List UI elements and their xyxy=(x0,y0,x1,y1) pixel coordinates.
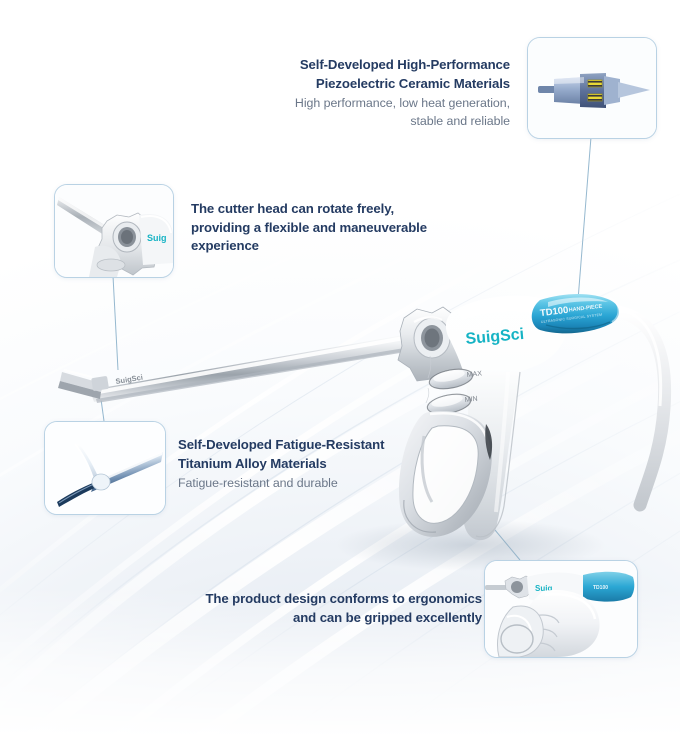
callout-piezoelectric: Self-Developed High-Performance Piezoele… xyxy=(236,56,510,130)
device-cable xyxy=(618,312,665,505)
callout-titanium-alloy: Self-Developed Fatigue-Resistant Titaniu… xyxy=(178,436,418,492)
panel-piezoelectric-image xyxy=(528,38,656,138)
device-shaft xyxy=(90,330,436,403)
callout-ergonomics-title: The product design conforms to ergonomic… xyxy=(190,590,482,627)
callout-titanium-alloy-subtitle: Fatigue-resistant and durable xyxy=(178,474,418,492)
panel-rotating-head-image: Suig xyxy=(55,185,173,277)
callout-piezoelectric-title: Self-Developed High-Performance Piezoele… xyxy=(236,56,510,93)
svg-text:TD100: TD100 xyxy=(593,585,608,591)
panel-titanium-alloy xyxy=(44,421,166,515)
callout-ergonomics: The product design conforms to ergonomic… xyxy=(190,590,482,627)
infographic-stage: SuigSci TD100 HAND-PIECE ULTRASO xyxy=(0,0,680,737)
callout-rotating-head-title: The cutter head can rotate freely, provi… xyxy=(191,200,459,256)
svg-text:Suig: Suig xyxy=(147,233,167,243)
panel-ergonomics-image: Suig TD100 xyxy=(485,561,637,657)
panel-rotating-head: Suig xyxy=(54,184,174,278)
callout-titanium-alloy-title: Self-Developed Fatigue-Resistant Titaniu… xyxy=(178,436,418,473)
callout-rotating-head: The cutter head can rotate freely, provi… xyxy=(191,200,459,256)
min-button-label: MIN xyxy=(464,396,478,404)
panel-piezoelectric xyxy=(527,37,657,139)
panel-ergonomics: Suig TD100 xyxy=(484,560,638,658)
callout-piezoelectric-subtitle: High performance, low heat generation, s… xyxy=(236,94,510,130)
panel-titanium-alloy-image xyxy=(45,422,165,514)
